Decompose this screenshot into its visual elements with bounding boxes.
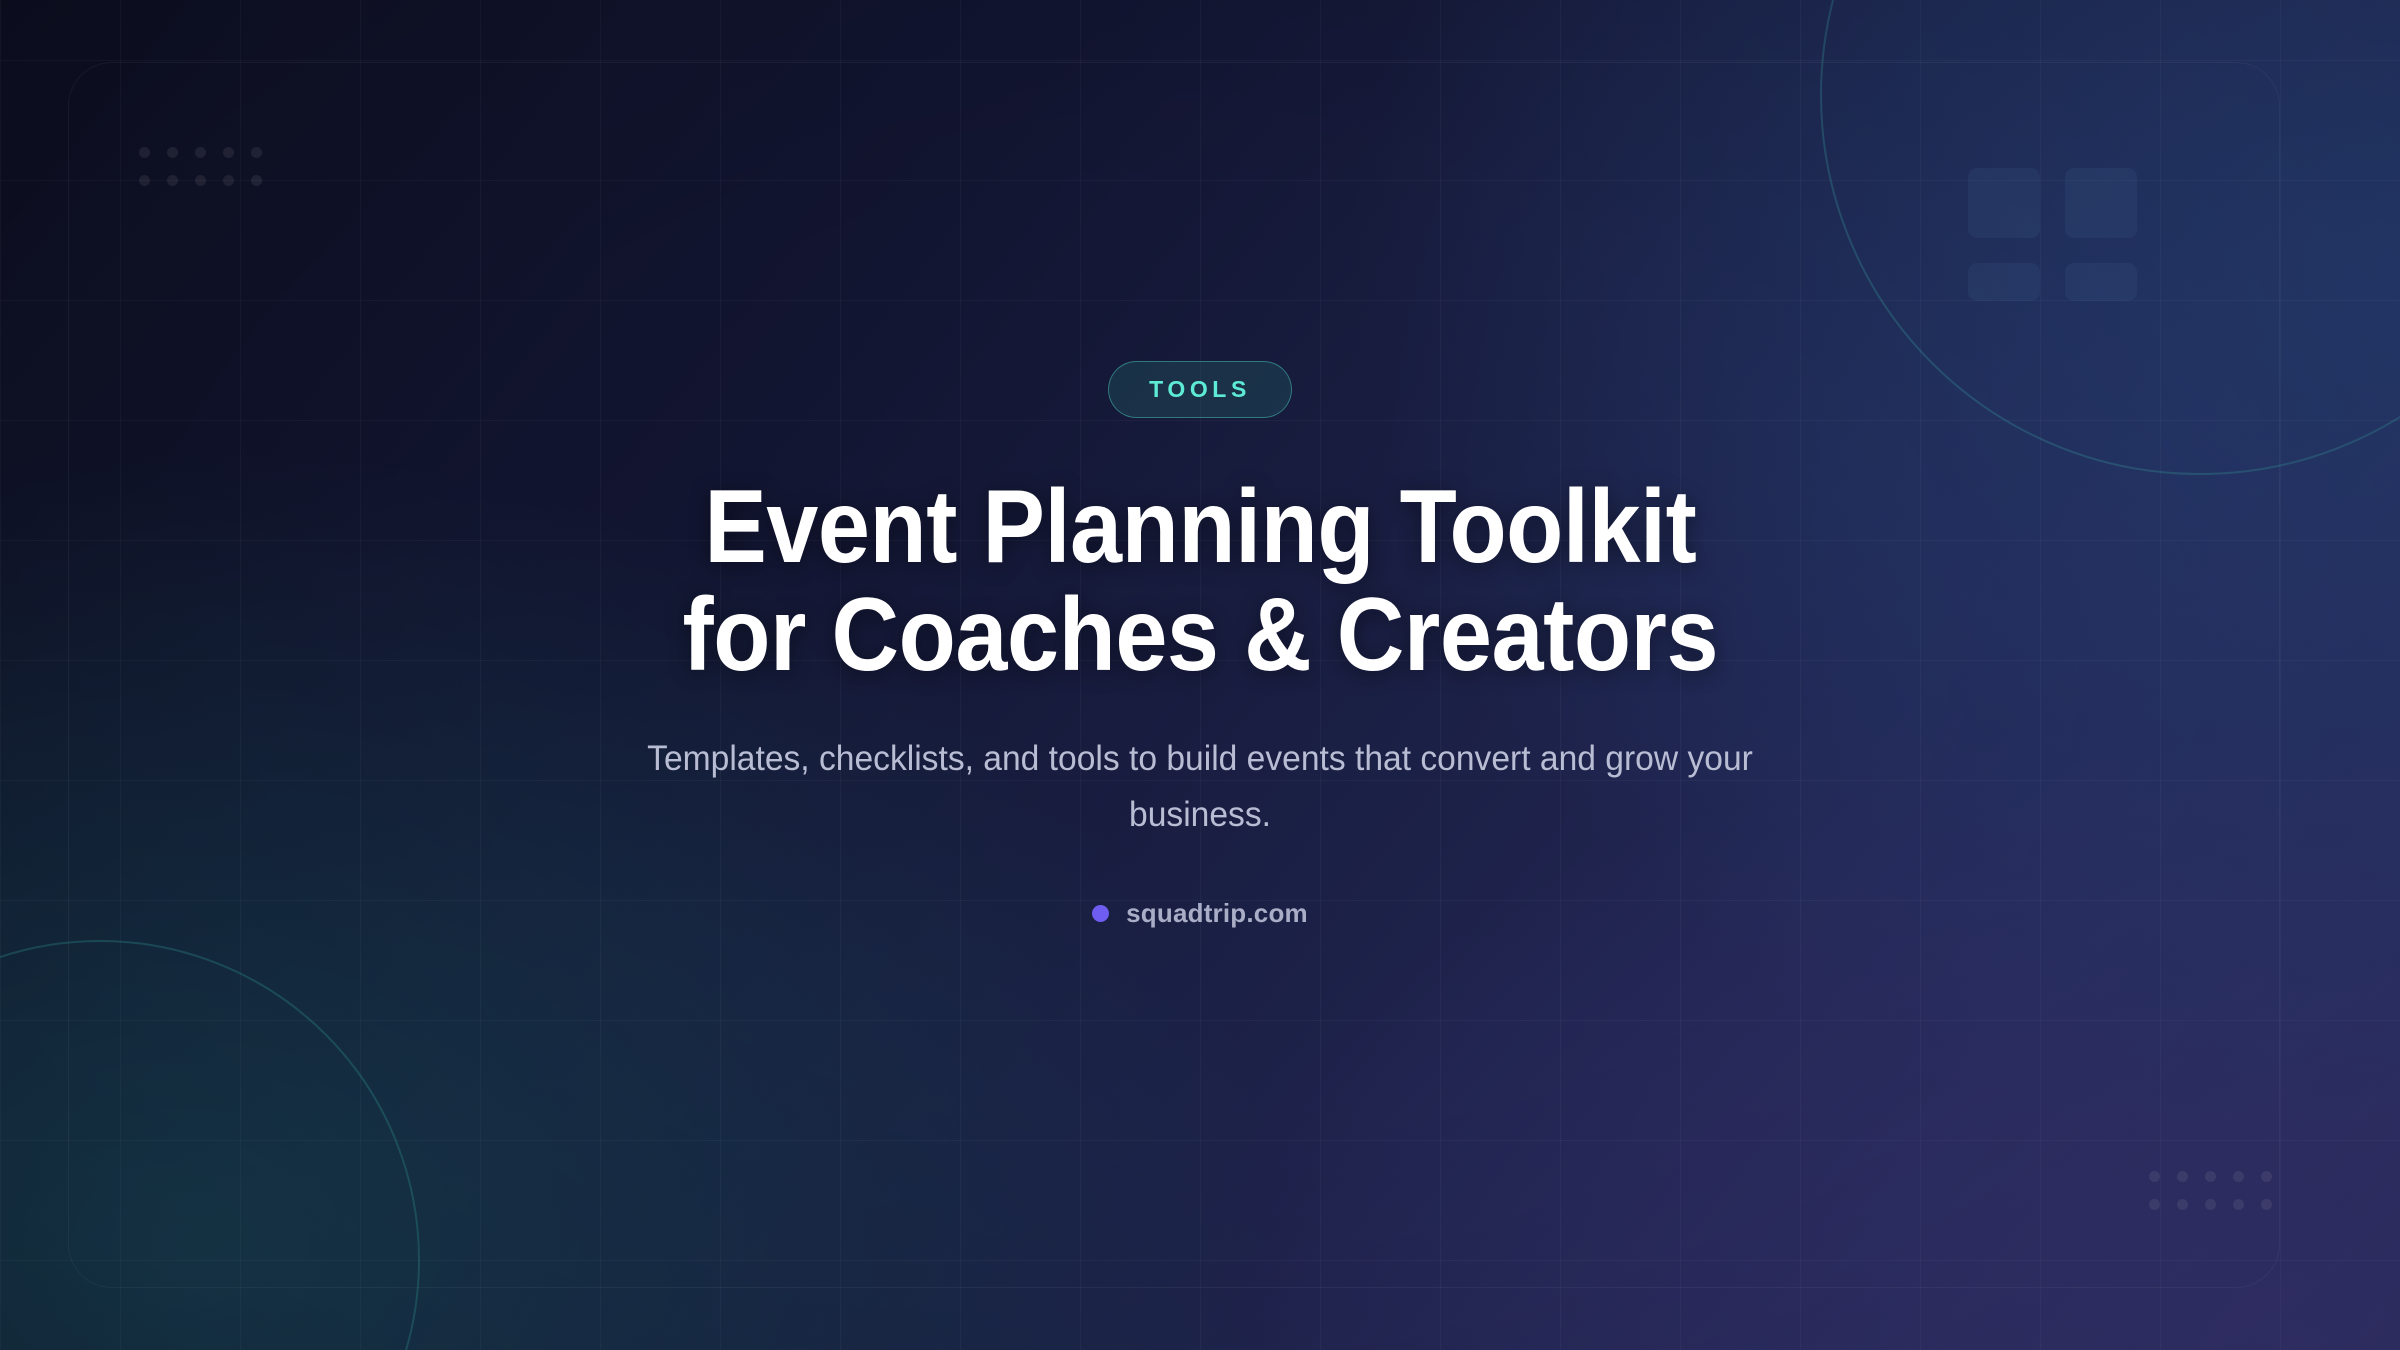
website-url-label: squadtrip.com [1126,898,1308,929]
page-title-line-1: Event Planning Toolkit [682,473,1718,581]
slide-root: TOOLS Event Planning Toolkit for Coaches… [0,0,2400,1350]
page-title: Event Planning Toolkit for Coaches & Cre… [682,473,1718,689]
tools-badge: TOOLS [1108,361,1292,418]
website-url-row[interactable]: squadtrip.com [1092,898,1308,929]
page-subtitle: Templates, checklists, and tools to buil… [581,731,1819,842]
bullet-dot-icon [1092,905,1109,922]
hero-content: TOOLS Event Planning Toolkit for Coaches… [0,0,2400,1350]
page-title-line-2: for Coaches & Creators [682,581,1718,689]
